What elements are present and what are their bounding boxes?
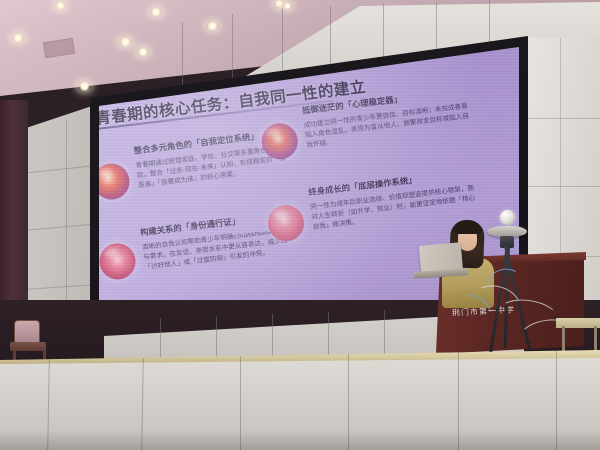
wall-seam <box>328 312 329 356</box>
wall-seam <box>216 316 217 360</box>
table-leg <box>562 326 565 352</box>
downlight <box>78 82 91 91</box>
downlight <box>119 38 132 46</box>
table-leg <box>594 326 597 352</box>
floor-shadow <box>0 430 600 450</box>
downlight <box>12 34 24 42</box>
downlight <box>150 8 162 16</box>
wall-seam <box>272 314 273 358</box>
wall-seam <box>518 186 600 187</box>
soffit-seam <box>436 2 437 52</box>
speaker-fringe <box>455 222 481 234</box>
wall-seam <box>384 310 385 354</box>
recording-camera-icon <box>500 210 515 225</box>
auditorium-scene: 青春期的核心任务：自我同一性的建立 整合多元角色的「自我定位系统」 青春期通过梳… <box>0 0 600 450</box>
soffit-seam <box>489 0 490 46</box>
soffit-seam <box>232 14 233 80</box>
downlight <box>283 3 292 9</box>
soffit-seam <box>330 6 331 64</box>
side-chair-back <box>14 320 40 344</box>
soffit-seam <box>282 8 283 70</box>
downlight <box>137 48 149 56</box>
soffit-seam <box>383 4 384 58</box>
downlight <box>55 2 66 9</box>
soffit-seam <box>182 22 183 92</box>
wall-seam <box>160 318 161 362</box>
downlight <box>206 22 219 30</box>
wall-seam <box>518 118 600 119</box>
